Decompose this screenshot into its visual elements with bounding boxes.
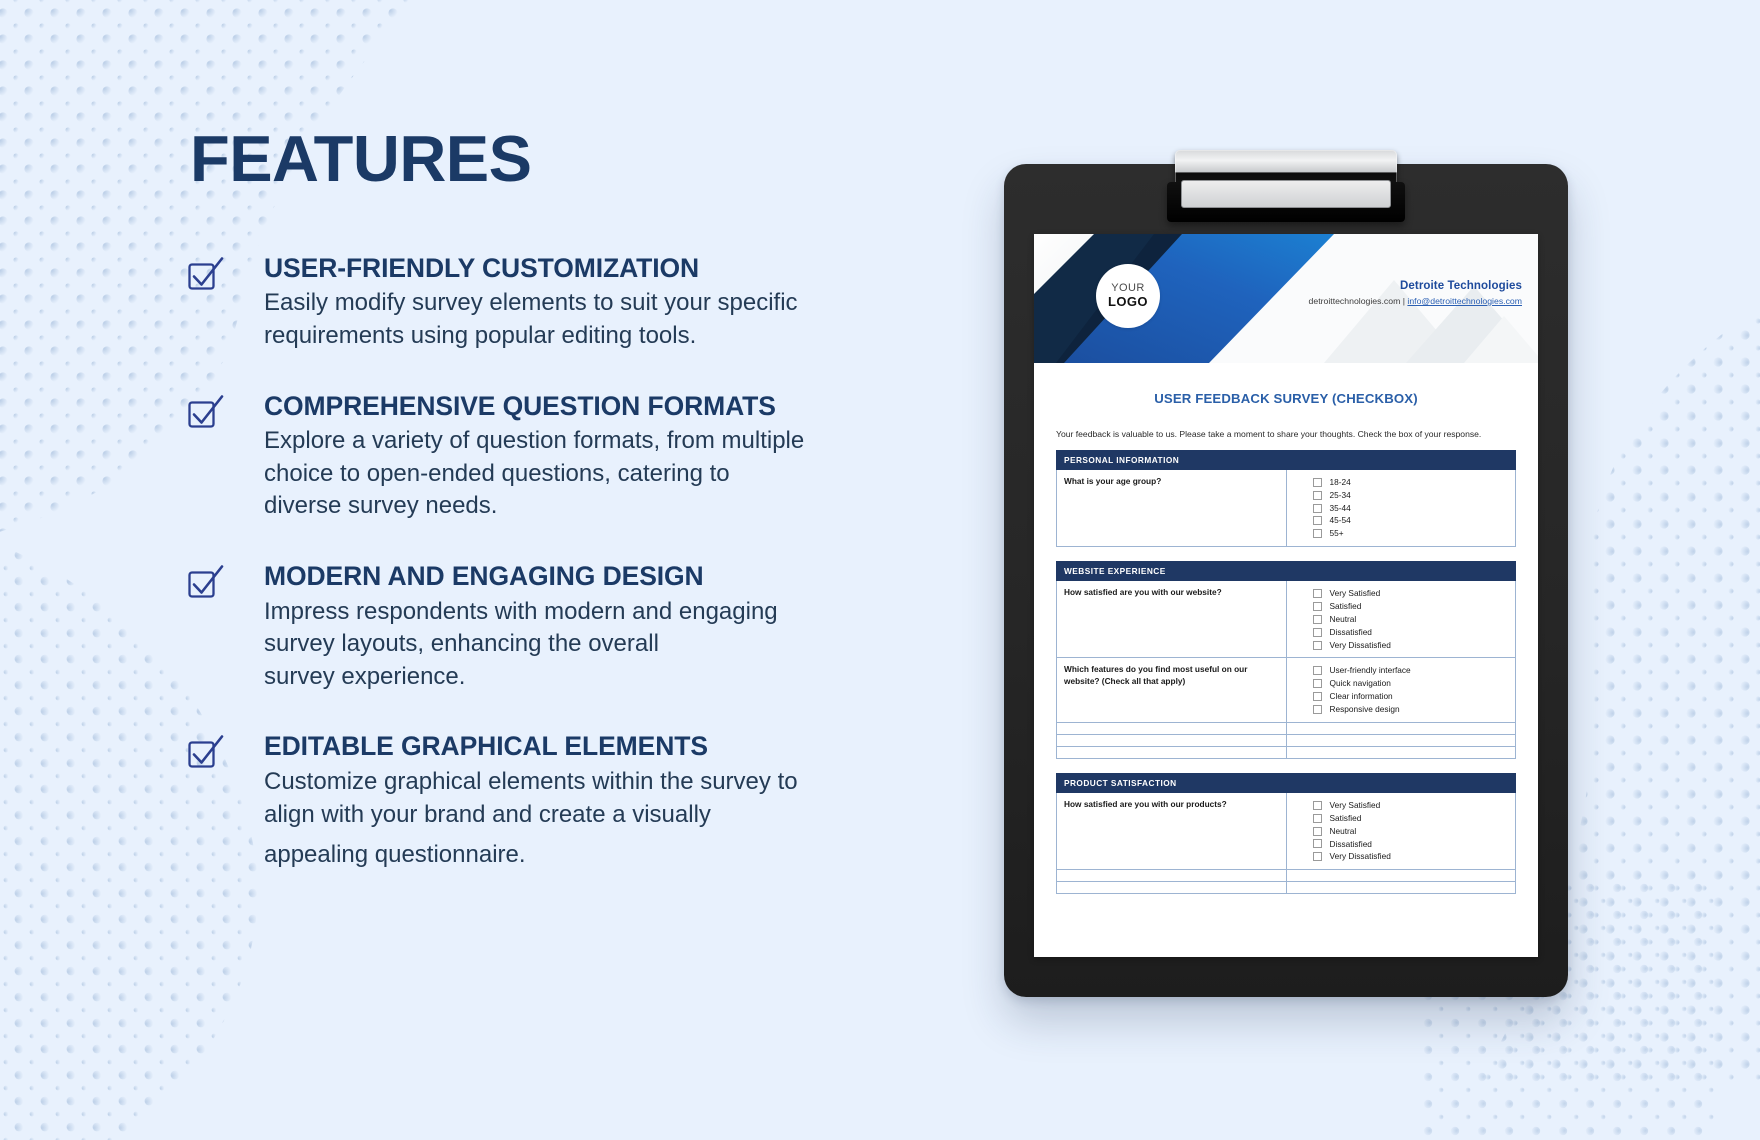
option-label: 25-34 xyxy=(1330,489,1351,502)
checkbox-checked-icon xyxy=(186,733,226,773)
feature-item: MODERN AND ENGAGING DESIGN Impress respo… xyxy=(186,561,946,693)
feature-line: Explore a variety of question formats, f… xyxy=(264,425,946,458)
checkbox-empty-icon[interactable] xyxy=(1313,692,1322,701)
option-item[interactable]: Satisfied xyxy=(1313,600,1509,613)
checkbox-empty-icon[interactable] xyxy=(1313,602,1322,611)
checkbox-empty-icon[interactable] xyxy=(1313,814,1322,823)
blank-cell[interactable] xyxy=(1057,746,1287,758)
checkbox-empty-icon[interactable] xyxy=(1313,504,1322,513)
option-label: User-friendly interface xyxy=(1330,664,1411,677)
option-label: Quick navigation xyxy=(1330,677,1391,690)
option-label: Neutral xyxy=(1330,825,1357,838)
checkbox-checked-icon xyxy=(186,255,226,295)
option-item[interactable]: Responsive design xyxy=(1313,703,1509,716)
option-list: 18-24 25-34 35-44 45-54 55+ xyxy=(1286,469,1516,546)
blank-row xyxy=(1057,746,1516,758)
survey-section: PERSONAL INFORMATION What is your age gr… xyxy=(1056,450,1516,547)
feature-line: diverse survey needs. xyxy=(264,490,946,523)
blank-cell[interactable] xyxy=(1286,734,1516,746)
feature-description: Customize graphical elements within the … xyxy=(264,766,946,872)
question-row: What is your age group? 18-24 25-34 35-4… xyxy=(1057,469,1516,546)
blank-cell[interactable] xyxy=(1057,882,1287,894)
option-label: 55+ xyxy=(1330,527,1344,540)
feature-title: EDITABLE GRAPHICAL ELEMENTS xyxy=(264,731,946,761)
option-label: Very Satisfied xyxy=(1330,799,1381,812)
option-label: 45-54 xyxy=(1330,514,1351,527)
survey-intro: Your feedback is valuable to us. Please … xyxy=(1056,428,1516,441)
feature-line: Customize graphical elements within the … xyxy=(264,766,946,799)
clipboard-clamp-plate xyxy=(1181,180,1391,208)
blank-cell[interactable] xyxy=(1057,734,1287,746)
blank-cell[interactable] xyxy=(1286,882,1516,894)
blank-cell[interactable] xyxy=(1057,870,1287,882)
checkbox-checked-icon xyxy=(186,393,226,433)
checkbox-empty-icon[interactable] xyxy=(1313,615,1322,624)
option-list: Very Satisfied Satisfied Neutral Dissati… xyxy=(1286,581,1516,658)
blank-row xyxy=(1057,722,1516,734)
section-heading: WEBSITE EXPERIENCE xyxy=(1057,562,1516,581)
checkbox-empty-icon[interactable] xyxy=(1313,801,1322,810)
feature-item: USER-FRIENDLY CUSTOMIZATION Easily modif… xyxy=(186,253,946,353)
blank-row xyxy=(1057,882,1516,894)
company-email-link[interactable]: info@detroittechnologies.com xyxy=(1407,296,1522,306)
feature-description: Explore a variety of question formats, f… xyxy=(264,425,946,523)
feature-description: Easily modify survey elements to suit yo… xyxy=(264,287,946,352)
option-item[interactable]: Very Dissatisfied xyxy=(1313,850,1509,863)
option-item[interactable]: 25-34 xyxy=(1313,489,1509,502)
logo-placeholder: YOUR LOGO xyxy=(1096,264,1160,328)
feature-title: USER-FRIENDLY CUSTOMIZATION xyxy=(264,253,946,283)
feature-description: Impress respondents with modern and enga… xyxy=(264,596,946,694)
question-text: Which features do you find most useful o… xyxy=(1057,658,1287,722)
feature-line: survey experience. xyxy=(264,661,946,694)
checkbox-empty-icon[interactable] xyxy=(1313,641,1322,650)
section-header-row: PRODUCT SATISFACTION xyxy=(1057,773,1516,792)
checkbox-empty-icon[interactable] xyxy=(1313,516,1322,525)
checkbox-empty-icon[interactable] xyxy=(1313,491,1322,500)
survey-title: USER FEEDBACK SURVEY (CHECKBOX) xyxy=(1056,391,1516,406)
contact-line: detroittechnologies.com | info@detroitte… xyxy=(1309,296,1522,306)
question-row: How satisfied are you with our website? … xyxy=(1057,581,1516,658)
feature-line: choice to open-ended questions, catering… xyxy=(264,458,946,491)
blank-cell[interactable] xyxy=(1057,722,1287,734)
option-item[interactable]: Very Dissatisfied xyxy=(1313,639,1509,652)
checkbox-empty-icon[interactable] xyxy=(1313,827,1322,836)
checkbox-empty-icon[interactable] xyxy=(1313,628,1322,637)
checkbox-empty-icon[interactable] xyxy=(1313,705,1322,714)
features-column: FEATURES USER-FRIENDLY CUSTOMIZATION Eas… xyxy=(186,126,946,910)
option-item[interactable]: Quick navigation xyxy=(1313,677,1509,690)
feature-item: EDITABLE GRAPHICAL ELEMENTS Customize gr… xyxy=(186,731,946,871)
question-row: How satisfied are you with our products?… xyxy=(1057,792,1516,869)
company-website: detroittechnologies.com xyxy=(1309,296,1401,306)
checkbox-empty-icon[interactable] xyxy=(1313,589,1322,598)
option-item[interactable]: Very Satisfied xyxy=(1313,587,1509,600)
option-item[interactable]: Clear information xyxy=(1313,690,1509,703)
checkbox-empty-icon[interactable] xyxy=(1313,666,1322,675)
blank-cell[interactable] xyxy=(1286,870,1516,882)
logo-line-1: YOUR xyxy=(1111,282,1144,295)
option-list: Very Satisfied Satisfied Neutral Dissati… xyxy=(1286,792,1516,869)
option-label: Satisfied xyxy=(1330,812,1362,825)
blank-cell[interactable] xyxy=(1286,722,1516,734)
clipboard-clamp xyxy=(1175,150,1397,214)
feature-line: align with your brand and create a visua… xyxy=(264,799,946,832)
checkbox-empty-icon[interactable] xyxy=(1313,478,1322,487)
question-text: How satisfied are you with our products? xyxy=(1057,792,1287,869)
blank-row xyxy=(1057,734,1516,746)
page-title: FEATURES xyxy=(190,126,946,191)
survey-section: WEBSITE EXPERIENCE How satisfied are you… xyxy=(1056,561,1516,759)
section-heading: PRODUCT SATISFACTION xyxy=(1057,773,1516,792)
feature-title: COMPREHENSIVE QUESTION FORMATS xyxy=(264,391,946,421)
feature-line: Easily modify survey elements to suit yo… xyxy=(264,287,946,320)
option-item[interactable]: 18-24 xyxy=(1313,476,1509,489)
option-label: Dissatisfied xyxy=(1330,626,1372,639)
option-item[interactable]: Dissatisfied xyxy=(1313,838,1509,851)
checkbox-empty-icon[interactable] xyxy=(1313,529,1322,538)
option-label: Responsive design xyxy=(1330,703,1400,716)
question-text: How satisfied are you with our website? xyxy=(1057,581,1287,658)
feature-item: COMPREHENSIVE QUESTION FORMATS Explore a… xyxy=(186,391,946,523)
feature-title: MODERN AND ENGAGING DESIGN xyxy=(264,561,946,591)
section-header-row: WEBSITE EXPERIENCE xyxy=(1057,562,1516,581)
blank-row xyxy=(1057,870,1516,882)
option-item[interactable]: 35-44 xyxy=(1313,502,1509,515)
option-label: 35-44 xyxy=(1330,502,1351,515)
question-row: Which features do you find most useful o… xyxy=(1057,658,1516,722)
checkbox-empty-icon[interactable] xyxy=(1313,679,1322,688)
option-label: Satisfied xyxy=(1330,600,1362,613)
checkbox-checked-icon xyxy=(186,563,226,603)
option-item[interactable]: 45-54 xyxy=(1313,514,1509,527)
option-label: Very Dissatisfied xyxy=(1330,850,1391,863)
option-label: Dissatisfied xyxy=(1330,838,1372,851)
feature-line: requirements using popular editing tools… xyxy=(264,320,946,353)
option-label: Neutral xyxy=(1330,613,1357,626)
survey-section: PRODUCT SATISFACTION How satisfied are y… xyxy=(1056,773,1516,894)
logo-line-2: LOGO xyxy=(1108,295,1148,310)
letterhead-contact-block: Detroite Technologies detroittechnologie… xyxy=(1309,280,1522,306)
feature-line: appealing questionnaire. xyxy=(264,839,946,872)
feature-line: survey layouts, enhancing the overall xyxy=(264,628,946,661)
option-item[interactable]: Very Satisfied xyxy=(1313,799,1509,812)
checkbox-empty-icon[interactable] xyxy=(1313,839,1322,848)
section-heading: PERSONAL INFORMATION xyxy=(1057,450,1516,469)
document-letterhead: YOUR LOGO Detroite Technologies detroitt… xyxy=(1034,234,1538,363)
document-body: USER FEEDBACK SURVEY (CHECKBOX) Your fee… xyxy=(1034,363,1538,894)
option-list: User-friendly interface Quick navigation… xyxy=(1286,658,1516,722)
option-item[interactable]: Dissatisfied xyxy=(1313,626,1509,639)
clipboard-mockup: YOUR LOGO Detroite Technologies detroitt… xyxy=(1004,164,1568,997)
option-label: Very Dissatisfied xyxy=(1330,639,1391,652)
checkbox-empty-icon[interactable] xyxy=(1313,852,1322,861)
survey-document: YOUR LOGO Detroite Technologies detroitt… xyxy=(1034,234,1538,957)
company-name: Detroite Technologies xyxy=(1309,280,1522,292)
option-label: Very Satisfied xyxy=(1330,587,1381,600)
section-header-row: PERSONAL INFORMATION xyxy=(1057,450,1516,469)
option-item[interactable]: 55+ xyxy=(1313,527,1509,540)
option-item[interactable]: Neutral xyxy=(1313,825,1509,838)
option-label: 18-24 xyxy=(1330,476,1351,489)
question-text: What is your age group? xyxy=(1057,469,1287,546)
blank-cell[interactable] xyxy=(1286,746,1516,758)
option-item[interactable]: User-friendly interface xyxy=(1313,664,1509,677)
option-item[interactable]: Neutral xyxy=(1313,613,1509,626)
option-item[interactable]: Satisfied xyxy=(1313,812,1509,825)
slide-canvas: FEATURES USER-FRIENDLY CUSTOMIZATION Eas… xyxy=(0,0,1760,1140)
feature-line: Impress respondents with modern and enga… xyxy=(264,596,946,629)
option-label: Clear information xyxy=(1330,690,1393,703)
